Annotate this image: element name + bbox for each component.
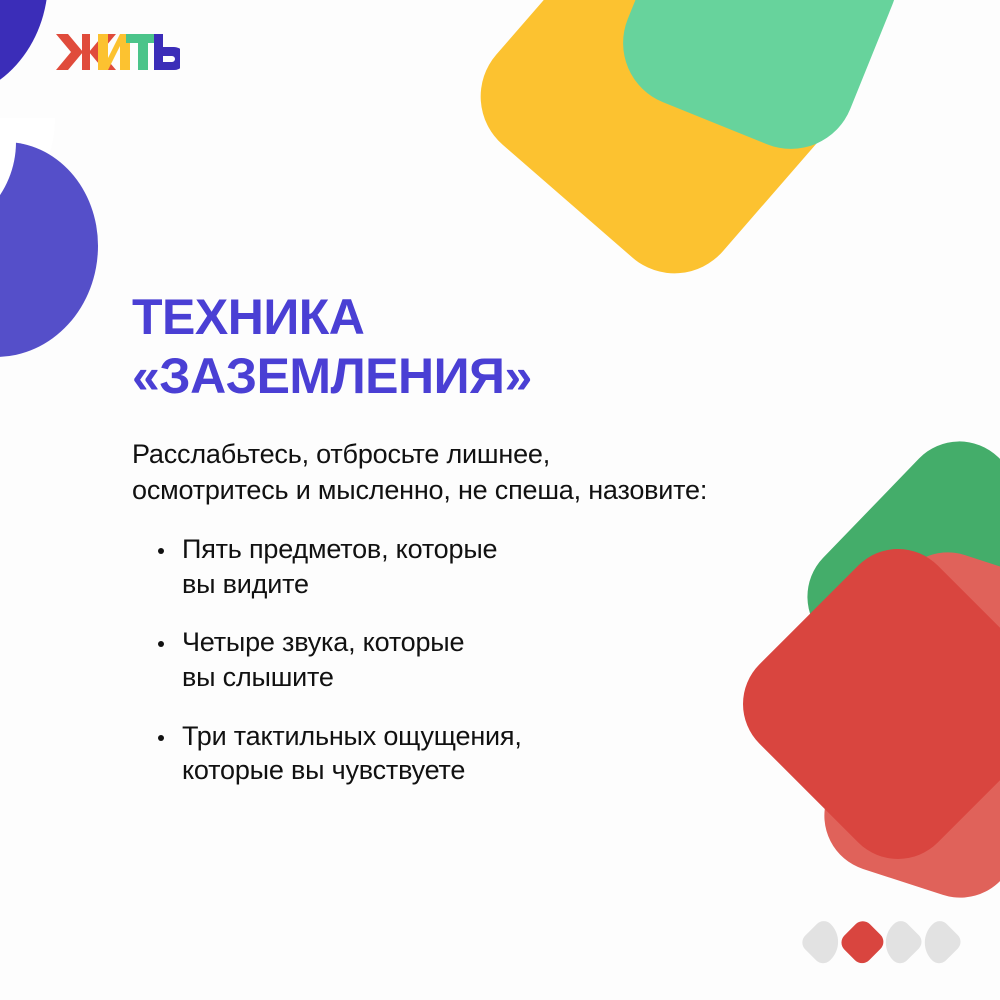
instruction-list: Пять предметов, которые вы видите Четыре… [132, 532, 832, 787]
purple-wave-bottom-cut-shape [0, 142, 16, 238]
purple-wave-top-shape [0, 0, 48, 100]
zhit-logo-icon [56, 26, 180, 78]
pagination-indicator[interactable] [806, 914, 956, 970]
purple-wave-bottom-shape [0, 142, 98, 357]
green-rounded-square-shape [604, 0, 916, 168]
yellow-rounded-square-shape [454, 0, 877, 300]
diamond-active-icon[interactable] [837, 917, 887, 967]
slide-canvas: ТЕХНИКА «ЗАЗЕМЛЕНИЯ» Расслабьтесь, отбро… [0, 0, 1000, 1000]
list-item: Четыре звука, которые вы слышите [154, 625, 832, 694]
purple-wave-notch-shape [0, 118, 55, 240]
salmon-rounded-rectangle-shape [810, 538, 1000, 912]
list-item: Три тактильных ощущения, которые вы чувс… [154, 719, 832, 788]
page-title: ТЕХНИКА «ЗАЗЕМЛЕНИЯ» [132, 288, 832, 406]
intro-paragraph: Расслабьтесь, отбросьте лишнее, осмотрит… [132, 436, 952, 508]
list-item: Пять предметов, которые вы видите [154, 532, 832, 601]
zhit-logo[interactable] [56, 26, 180, 82]
slide-content: ТЕХНИКА «ЗАЗЕМЛЕНИЯ» Расслабьтесь, отбро… [132, 288, 832, 812]
